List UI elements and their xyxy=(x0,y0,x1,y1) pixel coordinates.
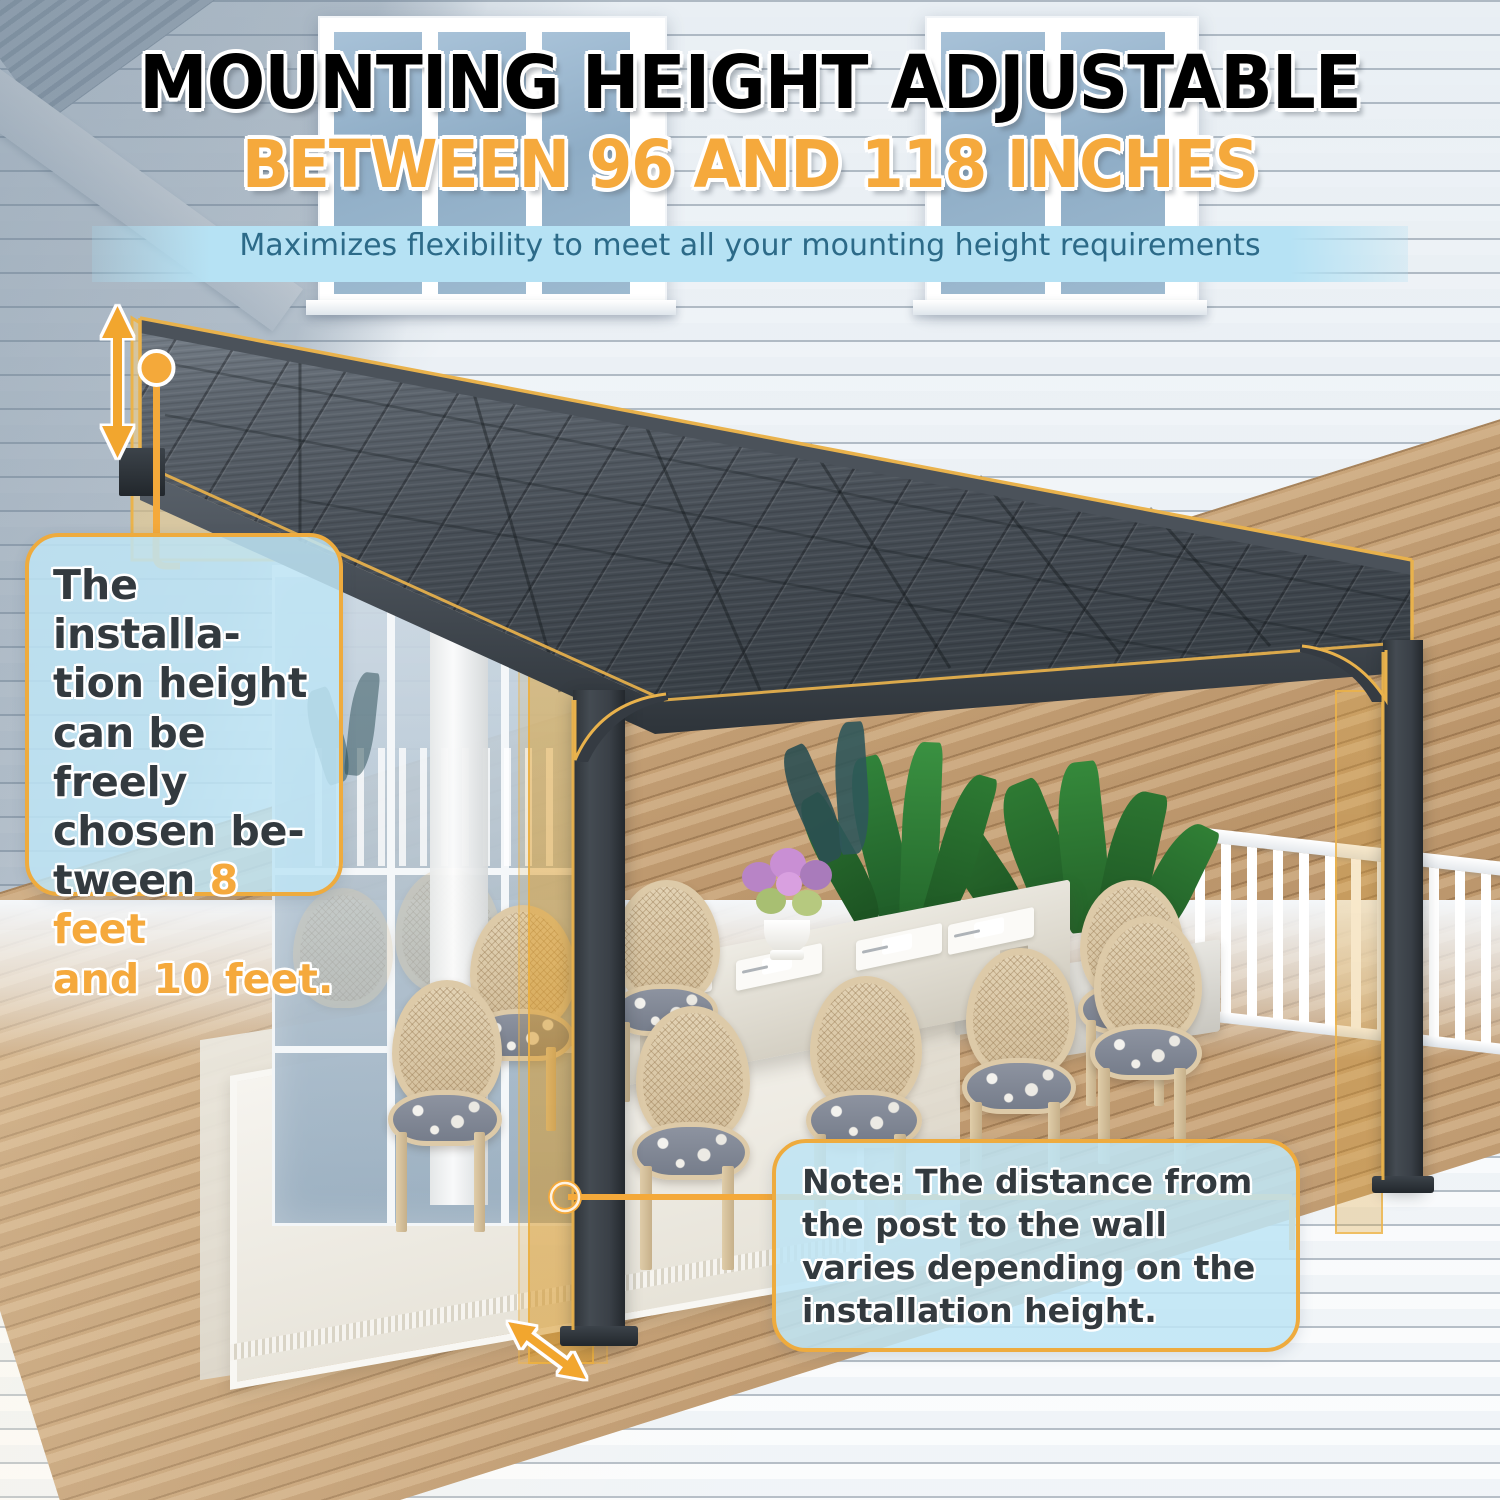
chair-leg xyxy=(474,1132,485,1232)
callout-installation-height-text: The installa-tion heightcan be freelycho… xyxy=(29,537,339,1004)
support-post-left xyxy=(573,690,625,1342)
highlight-min-feet: 8 feet xyxy=(53,856,238,953)
post-base-plate-right xyxy=(1372,1176,1434,1193)
wall-light-fixture xyxy=(1068,655,1102,677)
headline-line1: MOUNTING HEIGHT ADJUSTABLE xyxy=(53,46,1448,121)
chair-leg xyxy=(640,1166,652,1270)
callout-note: Note: The distance fromthe post to the w… xyxy=(772,1139,1300,1352)
highlight-max-feet: and 10 feet. xyxy=(53,955,333,1003)
flower-vase-base xyxy=(770,950,804,960)
support-post-right xyxy=(1383,640,1423,1188)
headline-line2: BETWEEN 96 AND 118 INCHES xyxy=(53,131,1448,198)
headline-block: MOUNTING HEIGHT ADJUSTABLE BETWEEN 96 AN… xyxy=(0,46,1500,199)
chair-leg xyxy=(722,1166,734,1270)
window-sill-left xyxy=(306,300,676,315)
wall-mount-bracket xyxy=(119,448,165,496)
subtitle-text: Maximizes flexibility to meet all your m… xyxy=(0,228,1500,263)
callout-note-text: Note: The distance fromthe post to the w… xyxy=(776,1143,1296,1333)
door-mullion xyxy=(501,568,509,1223)
ghost-post-right xyxy=(1335,690,1383,1234)
post-base-plate-left xyxy=(560,1326,638,1346)
callout-installation-height: The installa-tion heightcan be freelycho… xyxy=(25,533,343,896)
flower xyxy=(800,860,832,890)
flower xyxy=(776,872,802,896)
chair-leg xyxy=(396,1132,407,1232)
flower xyxy=(792,890,822,916)
product-infographic: MOUNTING HEIGHT ADJUSTABLE BETWEEN 96 AN… xyxy=(0,0,1500,1500)
window-sill-right xyxy=(913,300,1207,315)
